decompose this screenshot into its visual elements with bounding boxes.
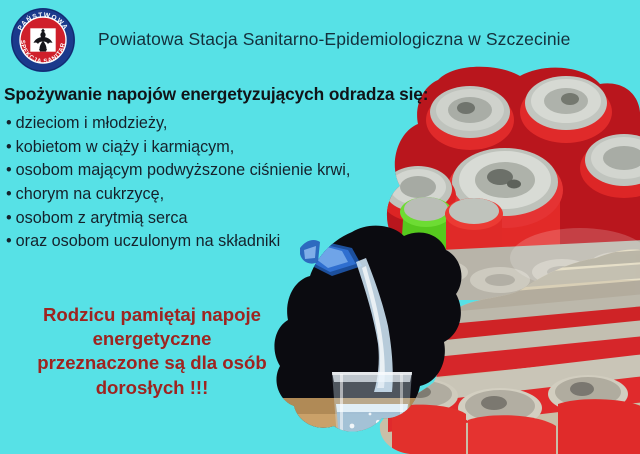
main-copy: Spożywanie napojów energetyzujących odra… (4, 84, 474, 254)
list-item-label: osobom mającym podwyższone ciśnienie krw… (16, 161, 351, 179)
list-item-label: dzieciom i młodzieży, (16, 114, 168, 132)
bullet-icon: • (6, 161, 12, 179)
list-item: •chorym na cukrzycę, (4, 183, 474, 207)
header-title: Powiatowa Stacja Sanitarno-Epidemiologic… (98, 29, 571, 50)
list-item-label: osobom z arytmią serca (16, 209, 188, 227)
list-item: •dzieciom i młodzieży, (4, 112, 474, 136)
bullet-icon: • (6, 209, 12, 227)
list-item-label: oraz osobom uczulonym na składniki (16, 232, 281, 250)
headline: Spożywanie napojów energetyzujących odra… (4, 84, 474, 105)
list-item-label: chorym na cukrzycę, (16, 185, 164, 203)
list-item: •kobietom w ciąży i karmiącym, (4, 136, 474, 160)
panstwowa-inspekcja-sanitarna-logo: PAŃSTWOWA INSPEKCJA SANITARNA (8, 5, 78, 73)
logo-svg: PAŃSTWOWA INSPEKCJA SANITARNA (8, 5, 78, 73)
callout-line: przeznaczone są dla osób (2, 351, 302, 375)
bullet-icon: • (6, 138, 12, 156)
poster-header: PAŃSTWOWA INSPEKCJA SANITARNA Powiatowa … (0, 0, 640, 78)
bullet-icon: • (6, 114, 12, 132)
list-item: •osobom z arytmią serca (4, 207, 474, 231)
list-item-label: kobietom w ciąży i karmiącym, (16, 138, 235, 156)
parent-warning-callout: Rodzicu pamiętaj napoje energetyczne prz… (2, 303, 302, 400)
poster-canvas: PAŃSTWOWA INSPEKCJA SANITARNA Powiatowa … (0, 0, 640, 454)
bullet-icon: • (6, 185, 12, 203)
callout-line: Rodzicu pamiętaj napoje (2, 303, 302, 327)
callout-line: dorosłych !!! (2, 376, 302, 400)
list-item: •osobom mającym podwyższone ciśnienie kr… (4, 159, 474, 183)
cans-rows-image (370, 240, 640, 454)
recommendation-list: •dzieciom i młodzieży, •kobietom w ciąży… (4, 112, 474, 254)
list-item: •oraz osobom uczulonym na składniki (4, 230, 474, 254)
callout-line: energetyczne (2, 327, 302, 351)
bullet-icon: • (6, 232, 12, 250)
